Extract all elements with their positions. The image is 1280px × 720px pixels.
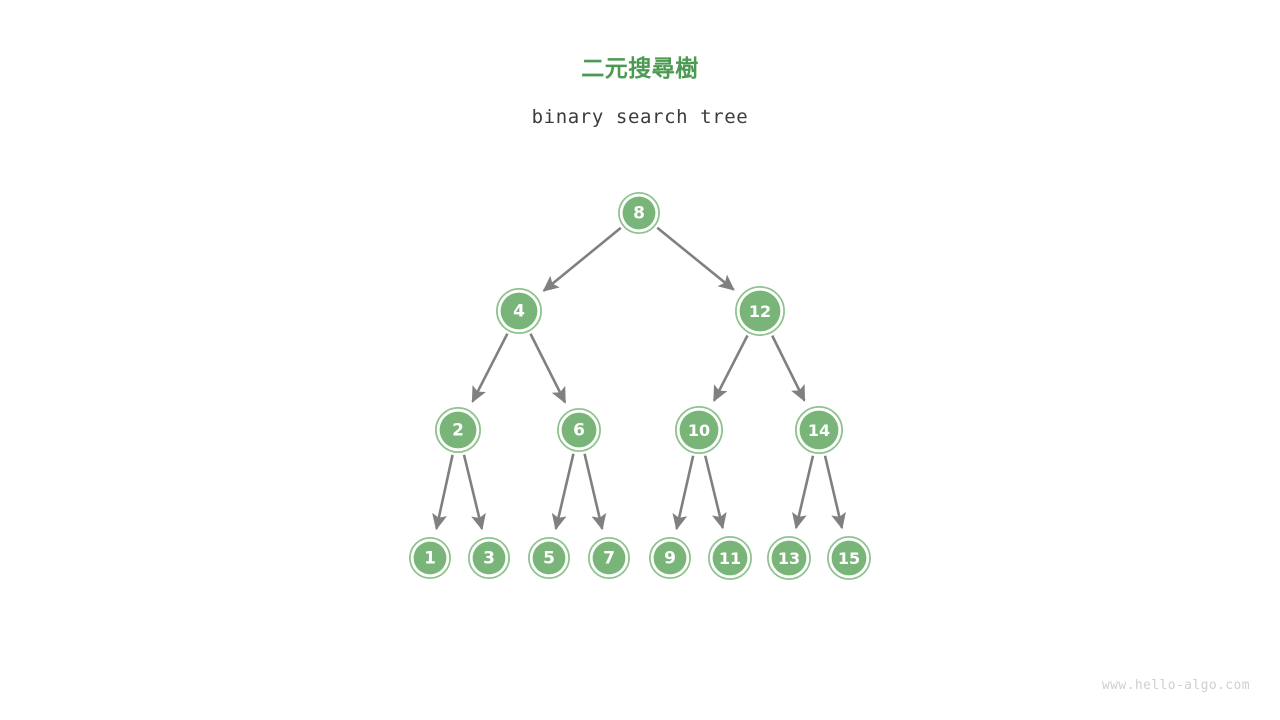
tree-edge <box>556 454 574 529</box>
diagram-page: 二元搜尋樹 binary search tree 841226101413579… <box>0 0 1280 720</box>
tree-node-label: 5 <box>543 549 555 569</box>
tree-edge <box>705 456 722 528</box>
tree-edge <box>677 456 694 529</box>
tree-node-label: 13 <box>778 549 800 568</box>
tree-edge <box>464 455 482 529</box>
tree-edge <box>585 454 603 529</box>
tree-node-label: 12 <box>749 302 771 321</box>
tree-node[interactable]: 10 <box>676 407 722 453</box>
tree-node-label: 10 <box>688 421 710 440</box>
tree-edge <box>530 334 565 403</box>
tree-edge-layer <box>436 228 842 529</box>
tree-node[interactable]: 3 <box>469 538 509 578</box>
tree-node[interactable]: 4 <box>497 289 541 333</box>
tree-node-label: 15 <box>838 549 860 568</box>
tree-node[interactable]: 9 <box>650 538 690 578</box>
tree-node[interactable]: 13 <box>768 537 810 579</box>
tree-node[interactable]: 7 <box>589 538 629 578</box>
watermark-label: www.hello-algo.com <box>1102 679 1250 692</box>
tree-edge <box>473 334 508 402</box>
tree-edge <box>825 456 842 528</box>
tree-edge <box>796 456 813 528</box>
tree-node-label: 3 <box>483 549 495 569</box>
tree-node[interactable]: 5 <box>529 538 569 578</box>
tree-node-label: 7 <box>603 549 615 569</box>
tree-node[interactable]: 2 <box>436 408 480 452</box>
tree-node[interactable]: 6 <box>558 409 600 451</box>
tree-node[interactable]: 1 <box>410 538 450 578</box>
tree-node-label: 9 <box>664 549 676 569</box>
binary-search-tree-diagram: 841226101413579111315 <box>0 0 1280 720</box>
tree-node-label: 1 <box>424 549 436 569</box>
tree-edge <box>436 455 452 529</box>
tree-node-label: 2 <box>452 421 464 441</box>
tree-node-label: 8 <box>633 204 645 224</box>
tree-node[interactable]: 11 <box>709 537 751 579</box>
tree-edge <box>657 228 733 290</box>
tree-edge <box>544 228 621 291</box>
tree-node-label: 14 <box>808 421 830 440</box>
tree-node-label: 11 <box>719 549 741 568</box>
tree-edge <box>772 336 804 401</box>
tree-node-label: 6 <box>573 421 585 441</box>
tree-node[interactable]: 8 <box>619 193 659 233</box>
tree-node[interactable]: 15 <box>828 537 870 579</box>
tree-node[interactable]: 14 <box>796 407 842 453</box>
tree-node[interactable]: 12 <box>736 287 784 335</box>
tree-node-label: 4 <box>513 302 525 322</box>
tree-edge <box>714 335 747 400</box>
